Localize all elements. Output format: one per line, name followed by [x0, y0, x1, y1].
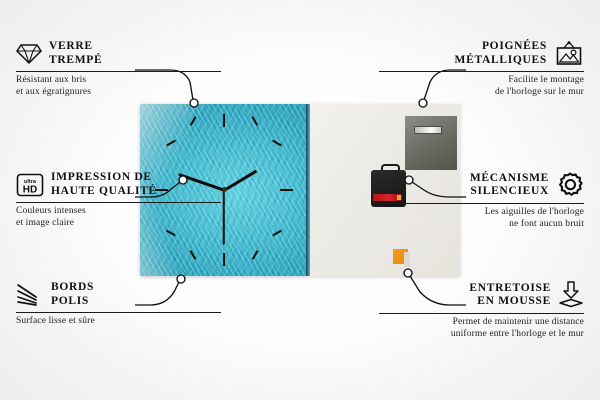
spacer-arrow-icon — [558, 281, 584, 309]
feature-header: BORDS POLIS — [16, 281, 221, 308]
clock-tick — [223, 253, 225, 266]
divider — [16, 202, 221, 203]
feature-header: POIGNÉES MÉTALLIQUES — [379, 40, 584, 67]
feature-title: MÉCANISME SILENCIEUX — [470, 172, 549, 199]
feature-header: ultra HD IMPRESSION DE HAUTE QUALITÉ — [16, 171, 221, 198]
infographic-canvas: VERRE TREMPÉ Résistant aux bris et aux é… — [0, 0, 600, 400]
feature-entretoise-en-mousse: ENTRETOISE EN MOUSSE Permet de maintenir… — [379, 281, 584, 340]
gear-icon — [556, 171, 584, 199]
metallic-hanger-plate — [405, 116, 457, 170]
hanging-frame-icon — [554, 41, 584, 67]
feature-verre-trempe: VERRE TREMPÉ Résistant aux bris et aux é… — [16, 40, 221, 98]
feature-subtitle: Permet de maintenir une distance uniform… — [379, 317, 584, 340]
foam-spacer — [393, 249, 408, 264]
feature-subtitle: Facilite le montage de l'horloge sur le … — [379, 75, 584, 98]
feature-header: VERRE TREMPÉ — [16, 40, 221, 67]
feature-title: ENTRETOISE EN MOUSSE — [469, 282, 551, 309]
feature-title: BORDS POLIS — [51, 281, 94, 308]
diamond-icon — [16, 43, 42, 65]
feature-mecanisme-silencieux: MÉCANISME SILENCIEUX Les aiguilles de l'… — [379, 171, 584, 230]
feature-title: IMPRESSION DE HAUTE QUALITÉ — [51, 171, 157, 198]
feature-subtitle: Couleurs intenses et image claire — [16, 206, 221, 229]
divider — [379, 203, 584, 204]
clock-tick — [280, 189, 293, 191]
divider — [16, 312, 221, 313]
feature-subtitle: Les aiguilles de l'horloge ne font aucun… — [379, 207, 584, 230]
feature-subtitle: Résistant aux bris et aux égratignures — [16, 75, 221, 98]
polished-edges-icon — [16, 283, 44, 307]
clock-tick — [223, 114, 225, 127]
feature-poignees-metalliques: POIGNÉES MÉTALLIQUES Facilite le montage… — [379, 40, 584, 98]
feature-title: POIGNÉES MÉTALLIQUES — [455, 40, 547, 67]
feature-bords-polis: BORDS POLIS Surface lisse et sûre — [16, 281, 221, 328]
clock-second-hand — [223, 190, 225, 245]
divider — [16, 71, 221, 72]
svg-text:HD: HD — [23, 184, 37, 195]
divider — [379, 71, 584, 72]
clock-center-hub — [222, 187, 227, 192]
feature-header: ENTRETOISE EN MOUSSE — [379, 281, 584, 309]
feature-title: VERRE TREMPÉ — [49, 40, 102, 67]
divider — [379, 313, 584, 314]
feature-impression-haute-qualite: ultra HD IMPRESSION DE HAUTE QUALITÉ Cou… — [16, 171, 221, 229]
ultra-hd-icon: ultra HD — [16, 173, 44, 197]
feature-subtitle: Surface lisse et sûre — [16, 316, 221, 328]
feature-header: MÉCANISME SILENCIEUX — [379, 171, 584, 199]
